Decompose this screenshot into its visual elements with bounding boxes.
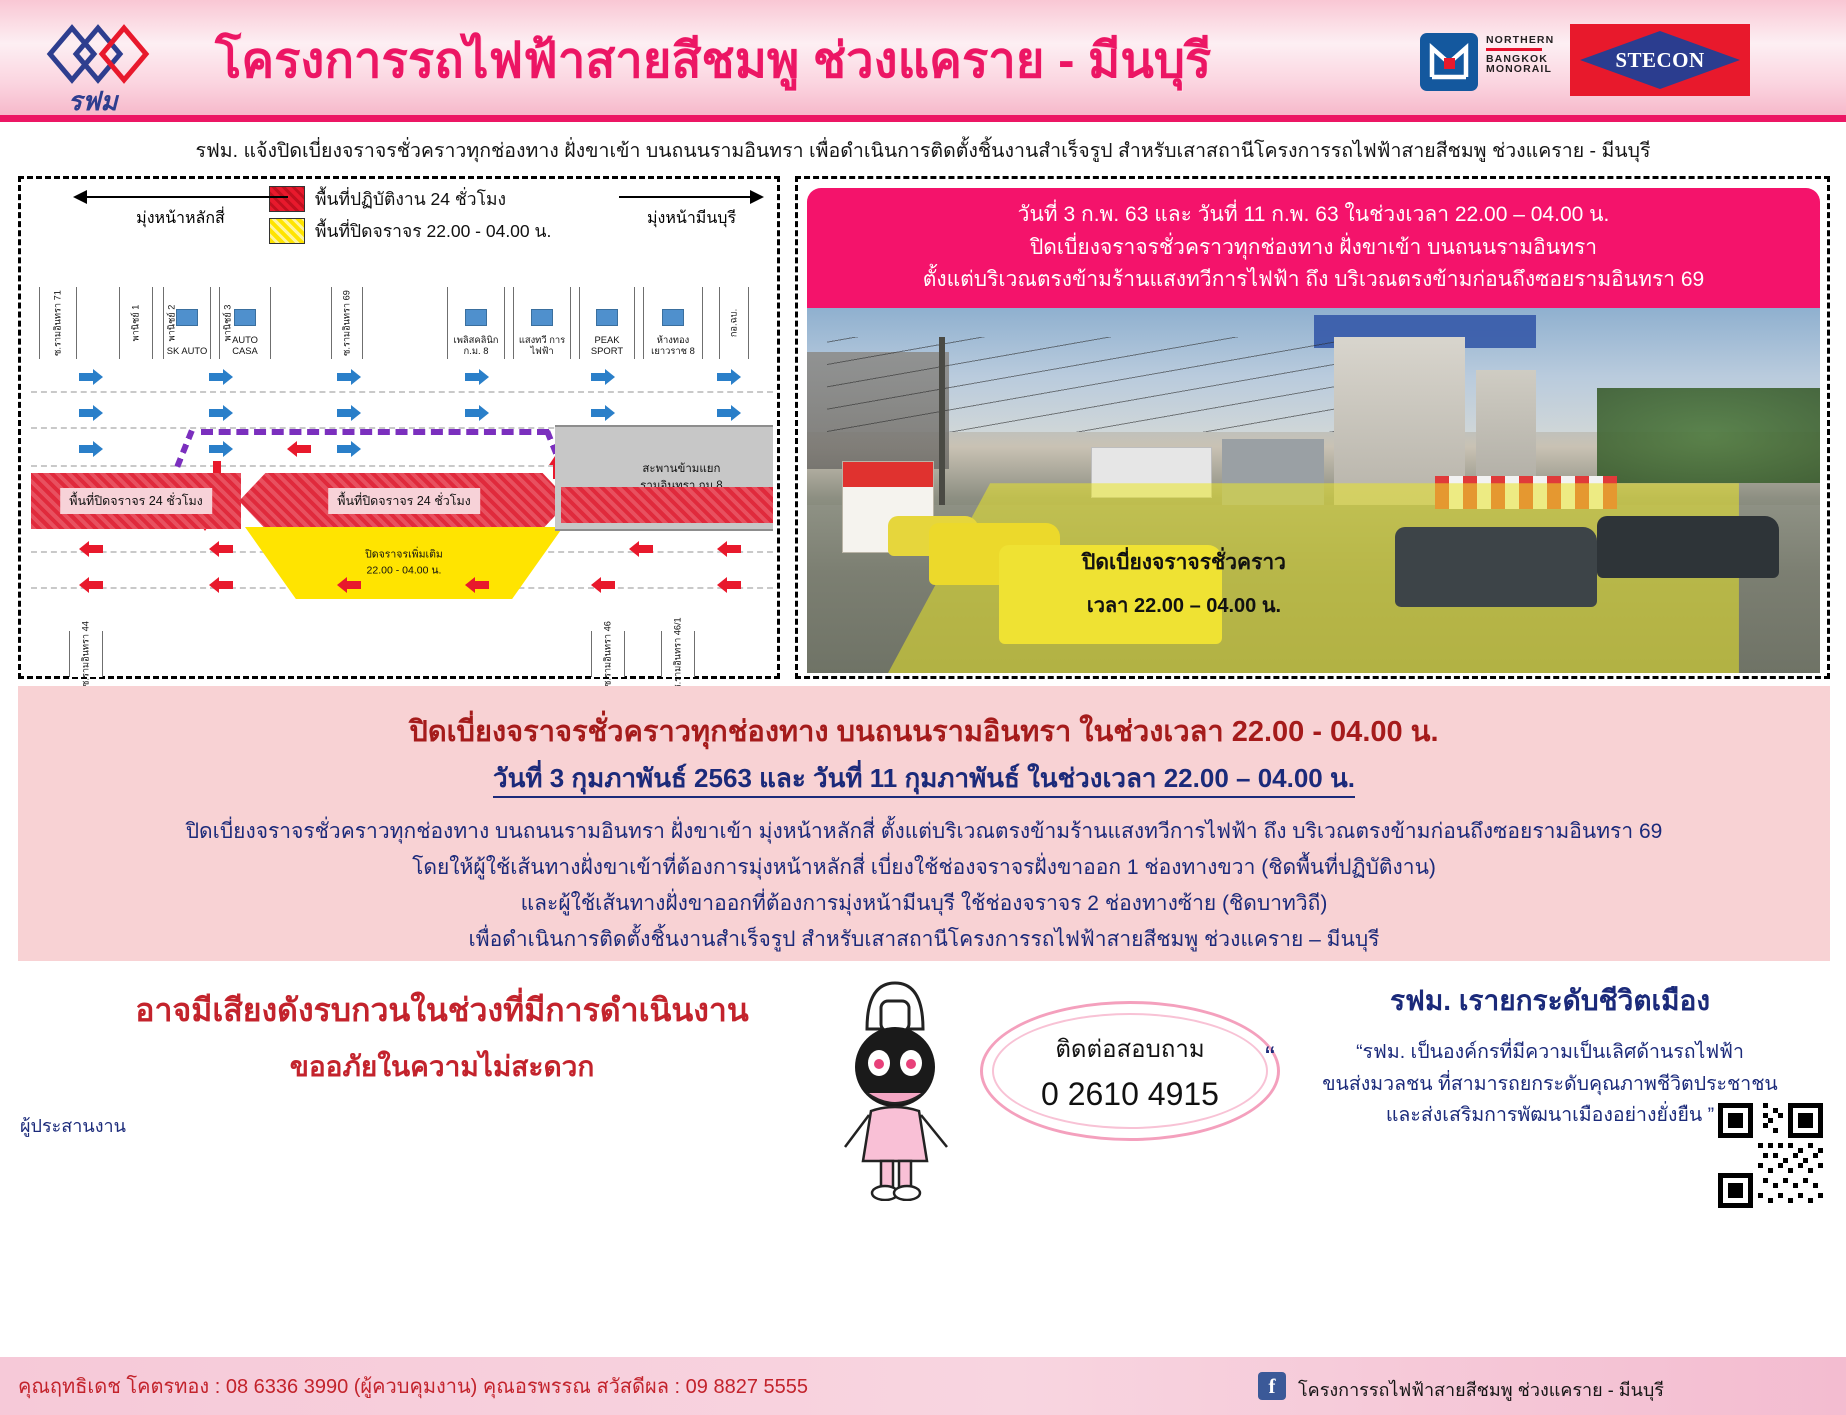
building-block: เพลิสคลินิก ก.ม. 8 — [447, 287, 505, 359]
closure-banner-line-1: วันที่ 3 ก.พ. 63 และ วันที่ 11 ก.พ. 63 ใ… — [1018, 199, 1610, 232]
building-block: ซ.รามอินทรา 46 — [591, 631, 625, 677]
detour-route-dash-icon — [201, 429, 549, 435]
building-icon — [465, 309, 487, 326]
direction-east-label: มุ่งหน้ามีนบุรี — [619, 206, 764, 231]
buildings-bottom-row: ซ.รามอินทรา 44 ซ.รามอินทรา 46 ซ.รามอินทร… — [31, 631, 773, 677]
lane-arrow-inbound-icon — [717, 369, 741, 385]
slogan-body-line-2: ขนส่งมวลชน ที่สามารถยกระดับคุณภาพชีวิตปร… — [1290, 1069, 1810, 1101]
lane-arrow-inbound-icon — [465, 369, 489, 385]
details-body: ปิดเบี่ยงจราจรชั่วคราวทุกช่องทาง บนถนนรา… — [18, 814, 1830, 958]
details-heading: ปิดเบี่ยงจราจรชั่วคราวทุกช่องทาง บนถนนรา… — [18, 708, 1830, 754]
extra-closure-label-l2: 22.00 - 04.00 น. — [367, 564, 442, 576]
closure-banner-line-3: ตั้งแต่บริเวณตรงข้ามร้านแสงทวีการไฟฟ้า ถ… — [923, 264, 1705, 297]
legend-item-closure-area: พื้นที่ปิดจราจร 22.00 - 04.00 น. — [269, 217, 551, 245]
noise-warning-line-2: ขออภัยในความไม่สะดวก — [72, 1045, 812, 1089]
photo-car-dark — [1395, 527, 1598, 607]
photo-trees-right — [1597, 388, 1820, 483]
lane-arrow-outbound-icon — [465, 577, 489, 593]
nbm-line-3: MONORAIL — [1486, 64, 1554, 75]
footer-bar: คุณฤทธิเดช โคตรทอง : 08 6336 3990 (ผู้คว… — [0, 1357, 1846, 1415]
work-zone-band-left: พื้นที่ปิดจราจร 24 ชั่วโมง — [31, 473, 241, 529]
stecon-diamond-icon: STECON — [1580, 31, 1740, 89]
lane-arrow-inbound-icon — [79, 405, 103, 421]
lane-arrow-outbound-icon — [629, 541, 653, 557]
details-body-line-4: เพื่อดำเนินการติดตั้งชิ้นงานสำเร็จรูป สำ… — [18, 922, 1830, 958]
page-header: รฟม โครงการรถไฟฟ้าสายสีชมพู ช่วงแคราย - … — [0, 0, 1846, 122]
building-icon — [176, 309, 198, 326]
lane-arrow-inbound-icon — [79, 441, 103, 457]
photo-car-dark — [1597, 516, 1779, 578]
building-label-horizontal: PEAK SPORT — [580, 335, 634, 357]
overpass-label-l1: สะพานข้ามแยก — [642, 463, 720, 475]
contact-callout[interactable]: ติดต่อสอบถาม 0 2610 4915 — [980, 1001, 1280, 1141]
building-label-horizontal: เพลิสคลินิก ก.ม. 8 — [448, 335, 504, 357]
building-block: พานิชย์ 1 — [119, 287, 153, 359]
lane-arrow-outbound-icon — [717, 541, 741, 557]
lane-arrow-outbound-icon — [337, 577, 361, 593]
extra-closure-label: ปิดจราจรเพิ่มเติม 22.00 - 04.00 น. — [365, 547, 443, 579]
building-block: พานิชย์ 2 SK AUTO — [163, 287, 211, 359]
mrta-logo-icon: รฟม — [42, 14, 202, 114]
photo-sign-header — [843, 462, 932, 487]
nbm-mark-icon — [1420, 33, 1478, 91]
building-block: ซ.รามอินทรา 44 — [69, 631, 103, 677]
closure-banner: วันที่ 3 ก.พ. 63 และ วันที่ 11 ก.พ. 63 ใ… — [807, 188, 1820, 308]
footer-section: อาจมีเสียงดังรบกวนในช่วงที่มีการดำเนินงา… — [0, 963, 1846, 1415]
lane-arrow-outbound-icon — [79, 541, 103, 557]
nbm-glyph-icon — [1420, 33, 1478, 91]
lane-arrow-inbound-icon — [717, 405, 741, 421]
mascot-icon — [815, 971, 975, 1201]
closure-banner-line-2: ปิดเบี่ยงจราจรชั่วคราวทุกช่องทาง ฝั่งขาเ… — [1030, 232, 1597, 265]
photo-caption-line-2: เวลา 22.00 – 04.00 น. — [1082, 589, 1286, 621]
details-body-line-1: ปิดเบี่ยงจราจรชั่วคราวทุกช่องทาง บนถนนรา… — [18, 814, 1830, 850]
building-block: ห้างทอง เยาวราช 8 — [643, 287, 703, 359]
building-label-vertical: ซ.รามอินทรา 71 — [51, 290, 66, 356]
lane-divider — [31, 391, 773, 393]
legend-item-work-area: พื้นที่ปฏิบัติงาน 24 ชั่วโมง — [269, 185, 551, 213]
lane-arrow-inbound-icon — [337, 369, 361, 385]
lane-arrow-outbound-icon — [591, 577, 615, 593]
direction-west: มุ่งหน้าหลักสี่ — [73, 189, 288, 231]
direction-east-arrow-icon — [619, 189, 764, 205]
construction-site-photo: ปิดเบี่ยงจราจรชั่วคราว เวลา 22.00 – 04.0… — [807, 308, 1820, 673]
building-block: ซ.รามอินทรา 69 — [331, 287, 363, 359]
page-title-text: โครงการรถไฟฟ้าสายสีชมพู ช่วงแคราย - มีนบ… — [215, 21, 1211, 99]
roadway: พื้นที่ปิดจราจร 24 ชั่วโมง พื้นที่ปิดจรา… — [31, 365, 773, 623]
facebook-icon[interactable]: f — [1258, 1372, 1286, 1400]
lane-arrow-outbound-icon — [79, 577, 103, 593]
work-zone-label-middle: พื้นที่ปิดจราจร 24 ชั่วโมง — [328, 488, 480, 514]
building-label-vertical: ซ.รามอินทรา 46 — [601, 621, 616, 687]
svg-text:รฟม: รฟม — [68, 86, 119, 114]
mascot-character — [815, 971, 975, 1201]
direction-east: มุ่งหน้ามีนบุรี — [619, 189, 764, 231]
footer-contact-names: คุณฤทธิเดช โคตรทอง : 08 6336 3990 (ผู้คว… — [18, 1370, 808, 1402]
details-subheading: วันที่ 3 กุมภาพันธ์ 2563 และ วันที่ 11 ก… — [18, 758, 1830, 799]
building-icon — [662, 309, 684, 326]
site-photo-panel: วันที่ 3 ก.พ. 63 และ วันที่ 11 ก.พ. 63 ใ… — [795, 176, 1830, 679]
announcement-subhead: รฟม. แจ้งปิดเบี่ยงจราจรชั่วคราวทุกช่องทา… — [0, 129, 1846, 171]
lane-arrow-outbound-icon — [209, 541, 233, 557]
slogan-body-line-1: “รฟม. เป็นองค์กรที่มีความเป็นเลิศด้านรถไ… — [1290, 1037, 1810, 1069]
work-zone-label-left: พื้นที่ปิดจราจร 24 ชั่วโมง — [60, 488, 212, 514]
lane-arrow-inbound-icon — [79, 369, 103, 385]
map-legend: พื้นที่ปฏิบัติงาน 24 ชั่วโมง พื้นที่ปิดจ… — [269, 185, 551, 249]
noise-warning-line-1: อาจมีเสียงดังรบกวนในช่วงที่มีการดำเนินงา… — [72, 985, 812, 1036]
photo-caption: ปิดเบี่ยงจราจรชั่วคราว เวลา 22.00 – 04.0… — [1082, 546, 1286, 621]
building-label-horizontal: SK AUTO — [164, 346, 210, 357]
stecon-wordmark: STECON — [1615, 48, 1704, 73]
nbm-line-1: NORTHERN — [1486, 35, 1554, 46]
nbm-wordmark: NORTHERN BANGKOK MONORAIL — [1486, 35, 1554, 75]
quote-mark-icon: “ — [1265, 1041, 1275, 1075]
extra-closure-zone: ปิดจราจรเพิ่มเติม 22.00 - 04.00 น. — [245, 527, 563, 599]
building-label-horizontal: แสงทวี การไฟฟ้า — [514, 335, 570, 357]
building-label-horizontal: AUTO CASA — [220, 335, 270, 357]
lane-arrow-inbound-icon — [209, 369, 233, 385]
legend-label-closure-area: พื้นที่ปิดจราจร 22.00 - 04.00 น. — [315, 217, 551, 245]
building-icon — [596, 309, 618, 326]
slogan-title: รฟม. เรายกระดับชีวิตเมือง — [1290, 979, 1810, 1023]
building-label-vertical: ซ.รามอินทรา 46/1 — [671, 617, 686, 690]
work-zone-band-right — [561, 487, 773, 523]
lane-arrow-inbound-icon — [591, 405, 615, 421]
contact-phone-number[interactable]: 0 2610 4915 — [1041, 1076, 1219, 1113]
facebook-page-name[interactable]: โครงการรถไฟฟ้าสายสีชมพู ช่วงแคราย - มีนบ… — [1298, 1375, 1664, 1404]
building-block: ซ.รามอินทรา 46/1 — [661, 631, 695, 677]
extra-closure-label-l1: ปิดจราจรเพิ่มเติม — [365, 548, 443, 560]
northern-bangkok-monorail-logo: NORTHERN BANGKOK MONORAIL — [1420, 25, 1466, 97]
traffic-diagram-panel: พื้นที่ปฏิบัติงาน 24 ชั่วโมง พื้นที่ปิดจ… — [18, 176, 780, 679]
lane-arrow-inbound-icon — [209, 441, 233, 457]
qr-code[interactable] — [1718, 1103, 1823, 1208]
coordinator-label: ผู้ประสานงาน — [20, 1111, 126, 1140]
lane-arrow-inbound-icon — [337, 441, 361, 457]
lane-arrow-inbound-icon — [591, 369, 615, 385]
announcement-subhead-text: รฟม. แจ้งปิดเบี่ยงจราจรชั่วคราวทุกช่องทา… — [195, 135, 1650, 166]
poster-root: รฟม โครงการรถไฟฟ้าสายสีชมพู ช่วงแคราย - … — [0, 0, 1846, 1415]
building-block: พานิชย์ 3 AUTO CASA — [219, 287, 271, 359]
photo-caption-line-1: ปิดเบี่ยงจราจรชั่วคราว — [1082, 546, 1286, 579]
lane-arrow-outbound-icon — [717, 577, 741, 593]
details-body-line-3: และผู้ใช้เส้นทางฝั่งขาออกที่ต้องการมุ่งห… — [18, 886, 1830, 922]
lane-arrow-inbound-icon — [465, 405, 489, 421]
lane-arrow-inbound-icon — [209, 405, 233, 421]
details-panel: ปิดเบี่ยงจราจรชั่วคราวทุกช่องทาง บนถนนรา… — [18, 686, 1830, 961]
building-label-horizontal: ห้างทอง เยาวราช 8 — [644, 335, 702, 357]
stecon-logo: STECON — [1570, 24, 1750, 96]
contact-label: ติดต่อสอบถาม — [1055, 1029, 1204, 1068]
details-subheading-text: วันที่ 3 กุมภาพันธ์ 2563 และ วันที่ 11 ก… — [493, 763, 1355, 798]
building-label-vertical: ซ.รามอินทรา 44 — [79, 621, 94, 687]
lane-arrow-inbound-icon — [337, 405, 361, 421]
building-block: แสงทวี การไฟฟ้า — [513, 287, 571, 359]
photo-overhead-wires — [827, 337, 1334, 432]
contact-content: ติดต่อสอบถาม 0 2610 4915 — [980, 1001, 1280, 1141]
lane-arrow-counterflow-icon — [287, 441, 311, 457]
photo-utility-pole — [939, 337, 945, 505]
direction-west-label: มุ่งหน้าหลักสี่ — [73, 206, 288, 231]
building-block: PEAK SPORT — [579, 287, 635, 359]
building-label-vertical: พานิชย์ 1 — [129, 305, 144, 342]
building-icon — [531, 309, 553, 326]
work-zone-band-middle: พื้นที่ปิดจราจร 24 ชั่วโมง — [239, 473, 569, 529]
building-label-vertical: กอ.ฉบ. — [727, 309, 742, 337]
building-block: กอ.ฉบ. — [719, 287, 749, 359]
building-label-vertical: ซ.รามอินทรา 69 — [340, 290, 355, 356]
qr-code-icon — [1718, 1103, 1823, 1208]
nbm-divider — [1486, 48, 1542, 51]
page-title: โครงการรถไฟฟ้าสายสีชมพู ช่วงแคราย - มีนบ… — [215, 10, 1235, 110]
building-block: ซ.รามอินทรา 71 — [39, 287, 77, 359]
details-body-line-2: โดยให้ผู้ใช้เส้นทางฝั่งขาเข้าที่ต้องการม… — [18, 850, 1830, 886]
mrta-logo: รฟม — [42, 14, 202, 114]
legend-label-work-area: พื้นที่ปฏิบัติงาน 24 ชั่วโมง — [315, 185, 506, 213]
lane-arrow-outbound-icon — [209, 577, 233, 593]
building-icon — [234, 309, 256, 326]
buildings-top-row: ซ.รามอินทรา 71 พานิชย์ 1 พานิชย์ 2 SK AU… — [31, 287, 773, 359]
direction-west-arrow-icon — [73, 189, 288, 205]
